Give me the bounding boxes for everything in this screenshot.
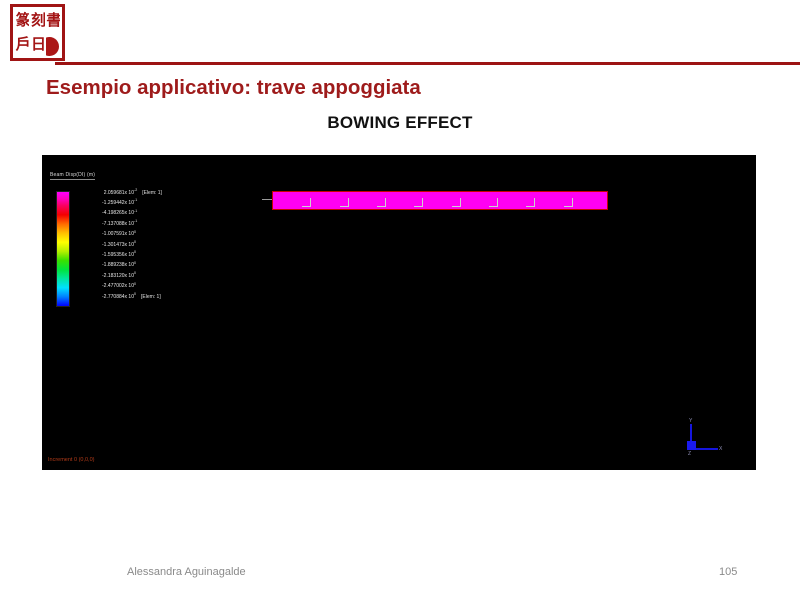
seal-dot-icon (46, 37, 59, 56)
legend-row: -4.198265x 10-1 (72, 206, 198, 216)
seal-character-icon: 日 (30, 33, 44, 56)
legend-row: 2.059681x 10-2[Elem: 1] (72, 185, 198, 195)
axis-label-x: X (719, 446, 722, 452)
seal-glyph-grid: 篆 刻 書 戶 日 (15, 9, 60, 56)
seal-character-icon: 戶 (15, 33, 29, 56)
beam-node-marker (452, 206, 461, 207)
fea-viewport[interactable]: Beam Disp(DI) (m) 2.059681x 10-2[Elem: 1… (42, 155, 756, 470)
axis-triad: Y X Z (682, 420, 724, 462)
axis-z-origin-icon (687, 441, 696, 450)
seal-cell: 刻 (30, 9, 44, 32)
legend-row: -1.007591x 100 (72, 227, 198, 237)
legend-row: -2.477002x 100 (72, 279, 198, 289)
beam-model[interactable] (234, 185, 614, 215)
legend-exponent: 0 (134, 261, 136, 265)
legend-row: -2.183120x 100 (72, 268, 198, 278)
legend-row-list: 2.059681x 10-2[Elem: 1]-1.259442x 10-1-4… (72, 185, 198, 299)
legend-row: -2.770884x 100[Elem: 1] (72, 289, 198, 299)
legend-color-bar (56, 191, 70, 307)
legend-exponent: -2 (134, 188, 137, 192)
beam-node-marker (377, 206, 386, 207)
seal-cell: 書 (46, 9, 60, 32)
contour-legend: Beam Disp(DI) (m) 2.059681x 10-2[Elem: 1… (48, 163, 198, 307)
legend-exponent: -1 (134, 219, 137, 223)
axis-label-z: Z (688, 451, 691, 457)
seal-cell: 篆 (15, 9, 29, 32)
legend-exponent: 0 (134, 250, 136, 254)
page-title: Esempio applicativo: trave appoggiata (46, 76, 421, 100)
beam-node-marker (302, 206, 311, 207)
legend-exponent: 0 (134, 282, 136, 286)
beam-node-marker (526, 206, 535, 207)
legend-value: -2.770884x 10 (72, 292, 134, 302)
legend-element-tag: [Elem: 1] (142, 190, 162, 196)
seal-cell (46, 33, 60, 56)
legend-row: -1.259442x 10-1 (72, 195, 198, 205)
footer-author: Alessandra Aguinagalde (127, 566, 246, 578)
institutional-seal-logo: 篆 刻 書 戶 日 (10, 4, 65, 61)
axis-label-y: Y (689, 418, 692, 424)
seal-cell: 戶 (15, 33, 29, 56)
header-divider (55, 62, 800, 65)
legend-exponent: 0 (134, 292, 136, 296)
footer-page-number: 105 (719, 566, 737, 578)
legend-exponent: 0 (134, 230, 136, 234)
legend-row: -1.301473x 100 (72, 237, 198, 247)
legend-body: 2.059681x 10-2[Elem: 1]-1.259442x 10-1-4… (48, 185, 198, 307)
legend-title: Beam Disp(DI) (m) (50, 172, 95, 180)
beam-node-marker (414, 206, 423, 207)
page-subtitle: BOWING EFFECT (0, 113, 800, 133)
legend-row: -7.137088x 10-1 (72, 216, 198, 226)
legend-row: -1.889238x 100 (72, 258, 198, 268)
seal-cell: 日 (30, 33, 44, 56)
legend-exponent: 0 (134, 240, 136, 244)
increment-status-text: Increment 0 (0,0,0) (48, 457, 94, 463)
legend-exponent: -1 (134, 209, 137, 213)
seal-character-icon: 刻 (30, 9, 44, 32)
legend-exponent: 0 (134, 271, 136, 275)
legend-row: -1.595356x 100 (72, 247, 198, 257)
seal-character-icon: 篆 (15, 9, 29, 32)
beam-element-body[interactable] (272, 191, 608, 210)
legend-element-tag: [Elem: 1] (141, 294, 161, 300)
seal-character-icon: 書 (46, 9, 60, 32)
beam-node-marker (340, 206, 349, 207)
beam-node-marker (489, 206, 498, 207)
beam-node-marker (564, 206, 573, 207)
legend-exponent: -1 (134, 198, 137, 202)
